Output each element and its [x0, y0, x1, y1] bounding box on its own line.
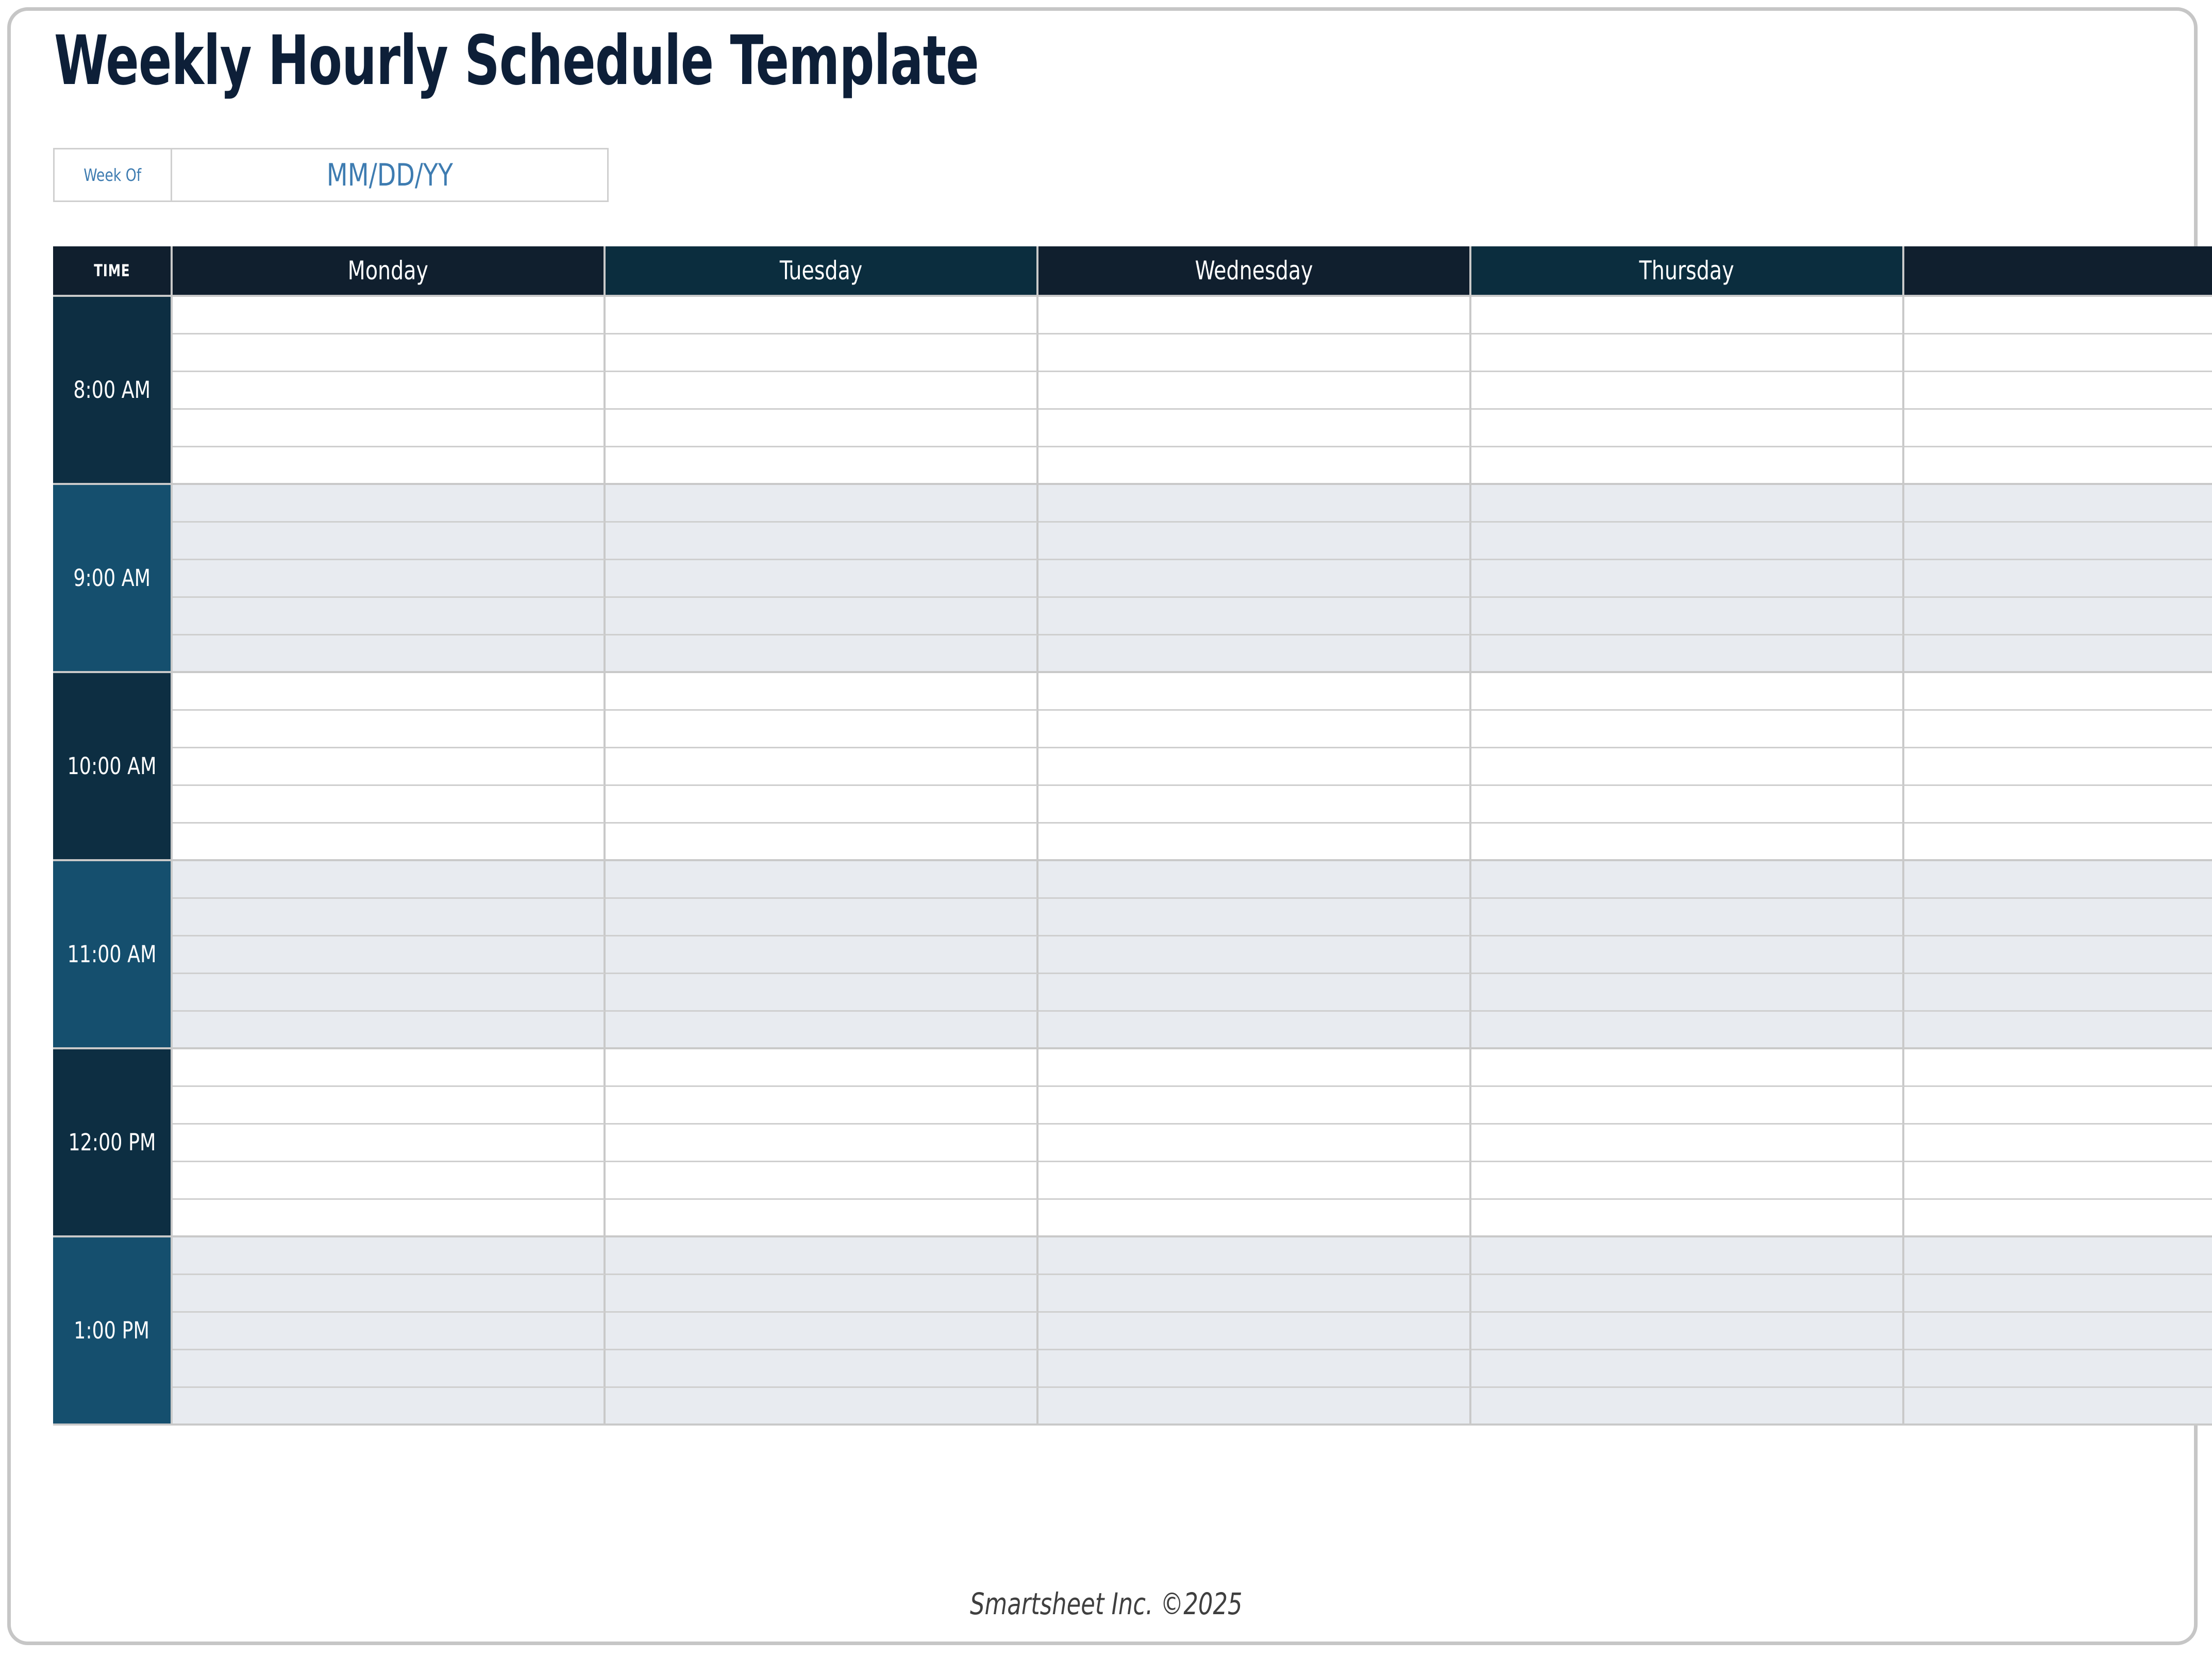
schedule-slot-cell[interactable]: [1904, 334, 2212, 372]
schedule-slot-cell[interactable]: [1904, 485, 2212, 523]
schedule-slot-cell[interactable]: [173, 1049, 606, 1087]
schedule-slot-cell[interactable]: [1904, 1237, 2212, 1275]
schedule-slot-cell[interactable]: [1038, 297, 1471, 334]
schedule-slot-cell[interactable]: [1471, 673, 1904, 711]
schedule-slot-cell[interactable]: [1904, 523, 2212, 560]
schedule-slot-cell[interactable]: [1471, 1237, 1904, 1275]
schedule-sub-row: [53, 334, 2212, 372]
schedule-slot-cell[interactable]: [1904, 372, 2212, 410]
schedule-slot-cell[interactable]: [606, 372, 1038, 410]
schedule-sub-row: [53, 711, 2212, 748]
schedule-slot-cell[interactable]: [173, 748, 606, 786]
schedule-slot-cell[interactable]: [1904, 1200, 2212, 1237]
schedule-slot-cell[interactable]: [606, 786, 1038, 824]
column-header-tuesday: Tuesday: [606, 246, 1038, 297]
schedule-slot-cell[interactable]: [1038, 899, 1471, 936]
schedule-sub-row: [53, 1350, 2212, 1388]
time-label-cell: 9:00 AM: [53, 485, 173, 673]
weekly-schedule-table: TIMEMondayTuesdayWednesdayThursdayFriday…: [53, 246, 2212, 1426]
schedule-slot-cell[interactable]: [1904, 748, 2212, 786]
schedule-sub-row: [53, 1087, 2212, 1125]
schedule-slot-cell[interactable]: [1471, 1200, 1904, 1237]
schedule-slot-cell[interactable]: [173, 936, 606, 974]
schedule-slot-cell[interactable]: [1471, 711, 1904, 748]
schedule-slot-cell[interactable]: [1904, 1388, 2212, 1426]
time-label-cell: 1:00 PM: [53, 1237, 173, 1426]
schedule-slot-cell[interactable]: [606, 1200, 1038, 1237]
schedule-sub-row: [53, 523, 2212, 560]
schedule-slot-cell[interactable]: [173, 673, 606, 711]
week-of-label-cell: Week Of: [55, 149, 172, 200]
schedule-slot-cell[interactable]: [1471, 297, 1904, 334]
schedule-slot-cell[interactable]: [173, 1275, 606, 1313]
schedule-slot-cell[interactable]: [173, 485, 606, 523]
schedule-slot-cell[interactable]: [606, 1012, 1038, 1049]
schedule-slot-cell[interactable]: [1471, 1087, 1904, 1125]
schedule-slot-cell[interactable]: [606, 711, 1038, 748]
schedule-slot-cell[interactable]: [1038, 447, 1471, 485]
schedule-slot-cell[interactable]: [1038, 1162, 1471, 1200]
time-label-cell: 10:00 AM: [53, 673, 173, 861]
schedule-sub-row: 8:00 AM: [53, 297, 2212, 334]
schedule-slot-cell[interactable]: [1471, 410, 1904, 447]
column-header-label: Wednesday: [1195, 256, 1313, 286]
schedule-slot-cell[interactable]: [1904, 1125, 2212, 1162]
schedule-slot-cell[interactable]: [1038, 523, 1471, 560]
schedule-slot-cell[interactable]: [1038, 485, 1471, 523]
schedule-slot-cell[interactable]: [173, 598, 606, 635]
schedule-slot-cell[interactable]: [1038, 786, 1471, 824]
schedule-slot-cell[interactable]: [1904, 711, 2212, 748]
schedule-slot-cell[interactable]: [1471, 824, 1904, 861]
schedule-slot-cell[interactable]: [1038, 598, 1471, 635]
schedule-slot-cell[interactable]: [1471, 560, 1904, 598]
schedule-slot-cell[interactable]: [1471, 372, 1904, 410]
schedule-slot-cell[interactable]: [173, 1087, 606, 1125]
schedule-slot-cell[interactable]: [1038, 748, 1471, 786]
schedule-header-row: TIMEMondayTuesdayWednesdayThursdayFriday: [53, 246, 2212, 297]
schedule-slot-cell[interactable]: [606, 447, 1038, 485]
schedule-sub-row: [53, 372, 2212, 410]
schedule-sub-row: [53, 1275, 2212, 1313]
schedule-slot-cell[interactable]: [1471, 861, 1904, 899]
schedule-slot-cell[interactable]: [1904, 410, 2212, 447]
schedule-slot-cell[interactable]: [1471, 1162, 1904, 1200]
schedule-body: 8:00 AM9:00 AM10:00 AM11:00 AM12:00 PM1:…: [53, 297, 2212, 1426]
schedule-sub-row: [53, 410, 2212, 447]
schedule-slot-cell[interactable]: [606, 1125, 1038, 1162]
schedule-slot-cell[interactable]: [1904, 861, 2212, 899]
time-label: 11:00 AM: [68, 941, 157, 968]
schedule-slot-cell[interactable]: [1471, 1350, 1904, 1388]
schedule-slot-cell[interactable]: [606, 974, 1038, 1012]
column-header-label: Thursday: [1639, 256, 1734, 286]
schedule-slot-cell[interactable]: [1038, 1237, 1471, 1275]
schedule-slot-cell[interactable]: [606, 1049, 1038, 1087]
column-header-label: Monday: [348, 256, 428, 286]
schedule-slot-cell[interactable]: [1904, 1313, 2212, 1350]
column-header-label: Tuesday: [780, 256, 862, 286]
schedule-slot-cell[interactable]: [1904, 1087, 2212, 1125]
time-label-cell: 8:00 AM: [53, 297, 173, 485]
schedule-slot-cell[interactable]: [1471, 786, 1904, 824]
week-of-field[interactable]: Week Of MM/DD/YY: [53, 148, 609, 202]
schedule-slot-cell[interactable]: [1904, 447, 2212, 485]
schedule-slot-cell[interactable]: [1471, 523, 1904, 560]
week-of-value: MM/DD/YY: [326, 157, 453, 193]
time-label-cell: 12:00 PM: [53, 1049, 173, 1237]
schedule-slot-cell[interactable]: [1038, 635, 1471, 673]
schedule-slot-cell[interactable]: [173, 861, 606, 899]
schedule-slot-cell[interactable]: [1904, 1350, 2212, 1388]
schedule-slot-cell[interactable]: [606, 635, 1038, 673]
schedule-slot-cell[interactable]: [1471, 447, 1904, 485]
schedule-slot-cell[interactable]: [606, 1313, 1038, 1350]
schedule-slot-cell[interactable]: [606, 1350, 1038, 1388]
week-of-input[interactable]: MM/DD/YY: [172, 149, 607, 200]
time-label: 1:00 PM: [74, 1317, 150, 1344]
schedule-slot-cell[interactable]: [1038, 372, 1471, 410]
schedule-slot-cell[interactable]: [1038, 974, 1471, 1012]
schedule-slot-cell[interactable]: [1038, 1388, 1471, 1426]
footer-text: Smartsheet Inc. ©2025: [970, 1586, 1243, 1621]
schedule-slot-cell[interactable]: [1038, 861, 1471, 899]
schedule-sub-row: [53, 974, 2212, 1012]
schedule-slot-cell[interactable]: [606, 899, 1038, 936]
time-label: 9:00 AM: [73, 564, 150, 592]
schedule-header: TIMEMondayTuesdayWednesdayThursdayFriday: [53, 246, 2212, 297]
schedule-slot-cell[interactable]: [173, 1350, 606, 1388]
schedule-slot-cell[interactable]: [1471, 974, 1904, 1012]
schedule-slot-cell[interactable]: [1471, 899, 1904, 936]
schedule-sub-row: [53, 748, 2212, 786]
schedule-sub-row: [53, 560, 2212, 598]
column-header-thursday: Thursday: [1471, 246, 1904, 297]
schedule-slot-cell[interactable]: [1471, 334, 1904, 372]
schedule-slot-cell[interactable]: [1904, 297, 2212, 334]
schedule-slot-cell[interactable]: [606, 1275, 1038, 1313]
schedule-slot-cell[interactable]: [1038, 936, 1471, 974]
schedule-sub-row: [53, 1313, 2212, 1350]
schedule-slot-cell[interactable]: [173, 1162, 606, 1200]
time-label-cell: 11:00 AM: [53, 861, 173, 1049]
schedule-slot-cell[interactable]: [1904, 974, 2212, 1012]
time-label: 12:00 PM: [68, 1129, 156, 1156]
schedule-slot-cell[interactable]: [606, 861, 1038, 899]
page-title: Weekly Hourly Schedule Template: [54, 27, 979, 95]
schedule-slot-cell[interactable]: [1038, 1313, 1471, 1350]
column-header-time: TIME: [53, 246, 173, 297]
schedule-slot-cell[interactable]: [606, 748, 1038, 786]
schedule-slot-cell[interactable]: [173, 1313, 606, 1350]
week-of-label: Week Of: [84, 165, 142, 185]
schedule-slot-cell[interactable]: [173, 974, 606, 1012]
schedule-slot-cell[interactable]: [1471, 936, 1904, 974]
schedule-slot-cell[interactable]: [1471, 1313, 1904, 1350]
schedule-slot-cell[interactable]: [1904, 1012, 2212, 1049]
schedule-slot-cell[interactable]: [606, 824, 1038, 861]
schedule-slot-cell[interactable]: [173, 824, 606, 861]
schedule-slot-cell[interactable]: [173, 447, 606, 485]
schedule-slot-cell[interactable]: [1471, 1049, 1904, 1087]
schedule-slot-cell[interactable]: [1471, 485, 1904, 523]
schedule-slot-cell[interactable]: [606, 673, 1038, 711]
schedule-slot-cell[interactable]: [1904, 936, 2212, 974]
schedule-sub-row: 9:00 AM: [53, 485, 2212, 523]
schedule-sub-row: [53, 1125, 2212, 1162]
schedule-slot-cell[interactable]: [1471, 635, 1904, 673]
column-header-wednesday: Wednesday: [1038, 246, 1471, 297]
schedule-slot-cell[interactable]: [1904, 560, 2212, 598]
schedule-slot-cell[interactable]: [1038, 824, 1471, 861]
schedule-sub-row: [53, 598, 2212, 635]
schedule-slot-cell[interactable]: [1904, 899, 2212, 936]
schedule-slot-cell[interactable]: [173, 711, 606, 748]
schedule-sub-row: [53, 824, 2212, 861]
schedule-slot-cell[interactable]: [173, 635, 606, 673]
schedule-slot-cell[interactable]: [1471, 1388, 1904, 1426]
schedule-sub-row: [53, 1388, 2212, 1426]
schedule-sub-row: [53, 936, 2212, 974]
schedule-slot-cell[interactable]: [606, 1237, 1038, 1275]
schedule-slot-cell[interactable]: [1904, 786, 2212, 824]
schedule-slot-cell[interactable]: [1038, 1350, 1471, 1388]
schedule-slot-cell[interactable]: [1038, 334, 1471, 372]
schedule-slot-cell[interactable]: [1904, 635, 2212, 673]
schedule-slot-cell[interactable]: [173, 1012, 606, 1049]
schedule-slot-cell[interactable]: [173, 899, 606, 936]
schedule-slot-cell[interactable]: [173, 1125, 606, 1162]
schedule-slot-cell[interactable]: [1904, 1049, 2212, 1087]
schedule-slot-cell[interactable]: [606, 1388, 1038, 1426]
schedule-slot-cell[interactable]: [606, 560, 1038, 598]
column-header-friday: Friday: [1904, 246, 2212, 297]
schedule-slot-cell[interactable]: [1038, 1275, 1471, 1313]
schedule-slot-cell[interactable]: [1904, 598, 2212, 635]
schedule-slot-cell[interactable]: [1038, 560, 1471, 598]
schedule-slot-cell[interactable]: [1038, 410, 1471, 447]
schedule-sub-row: 11:00 AM: [53, 861, 2212, 899]
schedule-slot-cell[interactable]: [1038, 1125, 1471, 1162]
schedule-sub-row: [53, 1162, 2212, 1200]
schedule-slot-cell[interactable]: [1471, 598, 1904, 635]
schedule-sub-row: [53, 786, 2212, 824]
schedule-sub-row: [53, 447, 2212, 485]
schedule-slot-cell[interactable]: [173, 297, 606, 334]
schedule-sub-row: 10:00 AM: [53, 673, 2212, 711]
schedule-slot-cell[interactable]: [606, 410, 1038, 447]
schedule-slot-cell[interactable]: [606, 523, 1038, 560]
schedule-sub-row: [53, 899, 2212, 936]
schedule-slot-cell[interactable]: [1904, 1162, 2212, 1200]
schedule-slot-cell[interactable]: [606, 936, 1038, 974]
schedule-sub-row: 1:00 PM: [53, 1237, 2212, 1275]
schedule-slot-cell[interactable]: [1038, 1200, 1471, 1237]
schedule-slot-cell[interactable]: [173, 1200, 606, 1237]
schedule-slot-cell[interactable]: [606, 297, 1038, 334]
schedule-sub-row: [53, 635, 2212, 673]
schedule-slot-cell[interactable]: [606, 334, 1038, 372]
time-label: 10:00 AM: [68, 752, 157, 780]
schedule-slot-cell[interactable]: [1038, 1049, 1471, 1087]
schedule-slot-cell[interactable]: [1904, 673, 2212, 711]
column-header-time-label: TIME: [94, 261, 130, 280]
schedule-slot-cell[interactable]: [606, 485, 1038, 523]
schedule-slot-cell[interactable]: [606, 1087, 1038, 1125]
schedule-slot-cell[interactable]: [1038, 1012, 1471, 1049]
schedule-slot-cell[interactable]: [1471, 1012, 1904, 1049]
schedule-slot-cell[interactable]: [173, 372, 606, 410]
schedule-slot-cell[interactable]: [1471, 1275, 1904, 1313]
schedule-slot-cell[interactable]: [173, 1388, 606, 1426]
footer: Smartsheet Inc. ©2025: [0, 1586, 2212, 1621]
schedule-slot-cell[interactable]: [173, 410, 606, 447]
schedule-slot-cell[interactable]: [1038, 711, 1471, 748]
schedule-slot-cell[interactable]: [1904, 1275, 2212, 1313]
column-header-monday: Monday: [173, 246, 606, 297]
schedule-slot-cell[interactable]: [173, 1237, 606, 1275]
schedule-sub-row: 12:00 PM: [53, 1049, 2212, 1087]
schedule-slot-cell[interactable]: [173, 786, 606, 824]
schedule-slot-cell[interactable]: [606, 598, 1038, 635]
schedule-slot-cell[interactable]: [1038, 1087, 1471, 1125]
schedule-slot-cell[interactable]: [1904, 824, 2212, 861]
time-label: 8:00 AM: [73, 376, 150, 404]
schedule-slot-cell[interactable]: [173, 334, 606, 372]
schedule-sub-row: [53, 1012, 2212, 1049]
schedule-slot-cell[interactable]: [173, 560, 606, 598]
schedule-slot-cell[interactable]: [606, 1162, 1038, 1200]
schedule-slot-cell[interactable]: [1471, 748, 1904, 786]
schedule-sub-row: [53, 1200, 2212, 1237]
schedule-slot-cell[interactable]: [1471, 1125, 1904, 1162]
schedule-slot-cell[interactable]: [1038, 673, 1471, 711]
schedule-slot-cell[interactable]: [173, 523, 606, 560]
